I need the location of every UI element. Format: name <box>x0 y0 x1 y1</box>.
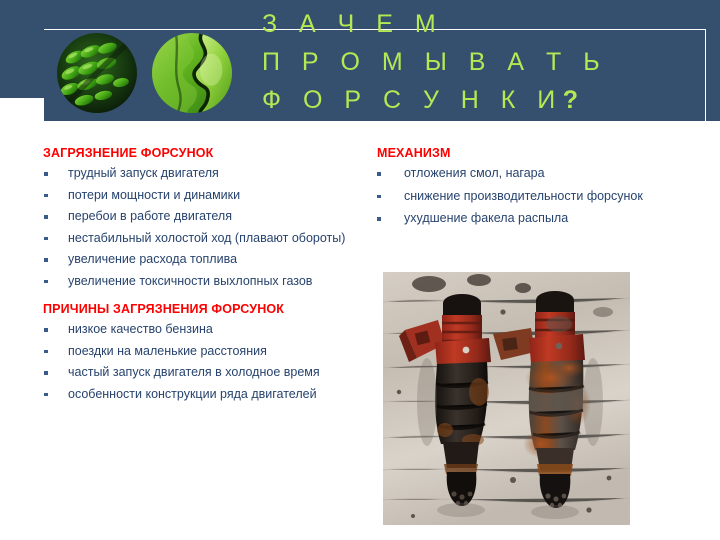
slide-header: З А Ч Е М П Р О М Ы В А Т Ь Ф О Р С У Н … <box>0 0 720 121</box>
list-contamination-symptoms: трудный запуск двигателя потери мощности… <box>40 166 370 289</box>
page-title-question-mark: ? <box>563 86 578 114</box>
list-item: снижение производительности форсунок <box>374 189 694 205</box>
list-item: увеличение токсичности выхлопных газов <box>40 274 370 290</box>
list-item: низкое качество бензина <box>40 322 370 338</box>
list-item: трудный запуск двигателя <box>40 166 370 182</box>
list-contamination-causes: низкое качество бензина поездки на мален… <box>40 322 370 402</box>
list-item: частый запуск двигателя в холодное время <box>40 365 370 381</box>
list-item: нестабильный холостой ход (плавают оборо… <box>40 231 370 247</box>
left-content-column: ЗАГРЯЗНЕНИЕ ФОРСУНОК трудный запуск двиг… <box>40 146 370 408</box>
section-heading-causes: ПРИЧИНЫ ЗАГРЯЗНЕНИЯ ФОРСУНОК <box>43 302 370 317</box>
list-item: ухудшение факела распыла <box>374 211 694 227</box>
list-item: особенности конструкции ряда двигателей <box>40 387 370 403</box>
section-heading-mechanism: МЕХАНИЗМ <box>377 146 694 161</box>
green-puzzle-photo <box>152 33 232 113</box>
page-title-line3: Ф О Р С У Н К И <box>262 86 563 114</box>
list-mechanism: отложения смол, нагара снижение производ… <box>374 166 694 227</box>
section-heading-contamination: ЗАГРЯЗНЕНИЕ ФОРСУНОК <box>43 146 370 161</box>
fuel-injectors-photo <box>383 272 630 525</box>
fern-leaf-photo <box>57 33 137 113</box>
list-item: отложения смол, нагара <box>374 166 694 182</box>
list-item: увеличение расхода топлива <box>40 252 370 268</box>
page-title-line1: З А Ч Е М <box>262 10 443 38</box>
list-item: перебои в работе двигателя <box>40 209 370 225</box>
page-title-line2: П Р О М Ы В А Т Ь <box>262 48 607 76</box>
list-item: потери мощности и динамики <box>40 188 370 204</box>
right-content-column: МЕХАНИЗМ отложения смол, нагара снижение… <box>374 146 694 234</box>
page-title: З А Ч Е М П Р О М Ы В А Т Ь Ф О Р С У Н … <box>262 5 720 119</box>
list-item: поездки на маленькие расстояния <box>40 344 370 360</box>
